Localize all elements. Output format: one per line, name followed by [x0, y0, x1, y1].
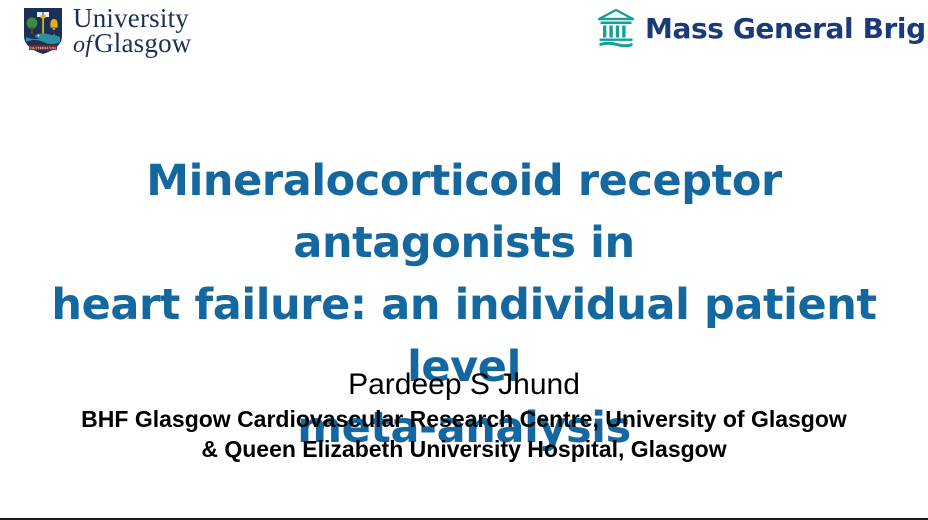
university-wordmark-glasgow: Glasgow — [94, 28, 191, 58]
author-block: Pardeep S Jhund BHF Glasgow Cardiovascul… — [0, 366, 928, 465]
classical-building-icon — [597, 8, 635, 48]
author-affiliation-line-1: BHF Glasgow Cardiovascular Research Cent… — [0, 404, 928, 435]
mass-general-brigham-logo: Mass General Brigham — [597, 8, 928, 48]
university-wordmark: University ofGlasgow — [73, 6, 191, 56]
presentation-title-slide: VIA VERITAS VITA University ofGlasgow Ma… — [0, 0, 928, 520]
university-wordmark-line2: ofGlasgow — [73, 31, 191, 56]
university-crest-icon: VIA VERITAS VITA — [22, 6, 64, 56]
university-of-glasgow-logo: VIA VERITAS VITA University ofGlasgow — [22, 6, 191, 56]
author-name: Pardeep S Jhund — [0, 366, 928, 404]
university-wordmark-of: of — [73, 32, 94, 58]
mass-general-brigham-wordmark: Mass General Brigham — [645, 12, 928, 45]
svg-text:VIA VERITAS VITA: VIA VERITAS VITA — [29, 47, 56, 50]
author-affiliation-line-2: & Queen Elizabeth University Hospital, G… — [0, 434, 928, 465]
slide-title-line-1: Mineralocorticoid receptor antagonists i… — [8, 151, 920, 275]
